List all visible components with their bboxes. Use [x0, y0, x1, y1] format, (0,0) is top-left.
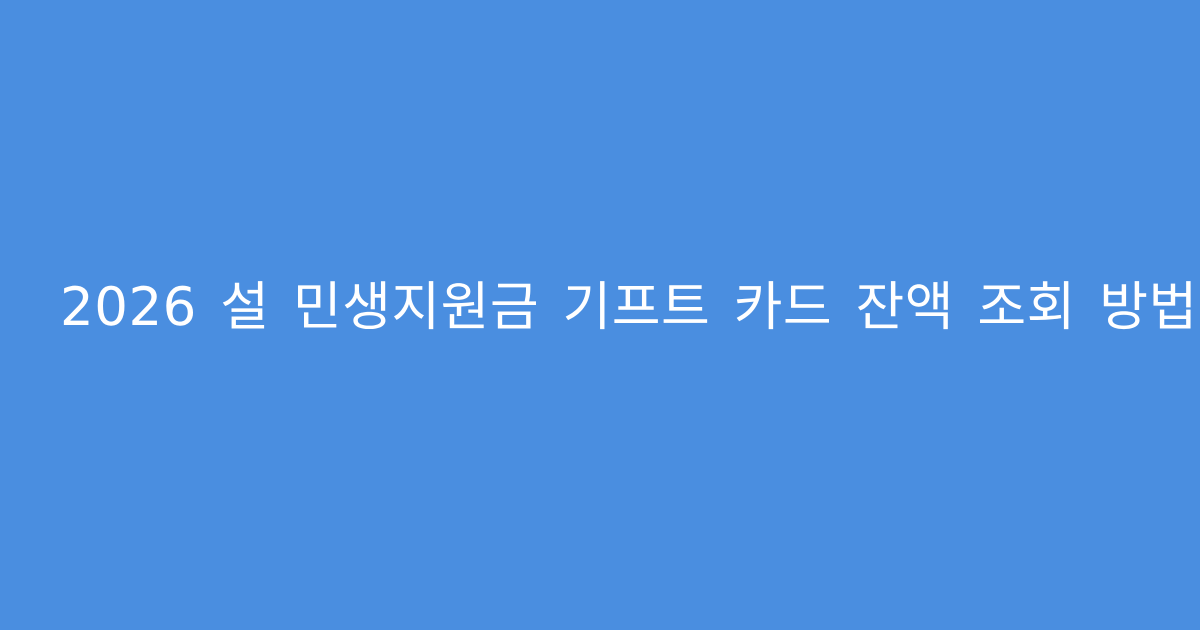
share-card-canvas: 2026 설 민생지원금 기프트 카드 잔액 조회 방법 — [0, 0, 1200, 630]
card-title: 2026 설 민생지원금 기프트 카드 잔액 조회 방법 — [60, 277, 1140, 340]
title-container: 2026 설 민생지원금 기프트 카드 잔액 조회 방법 — [0, 277, 1200, 340]
